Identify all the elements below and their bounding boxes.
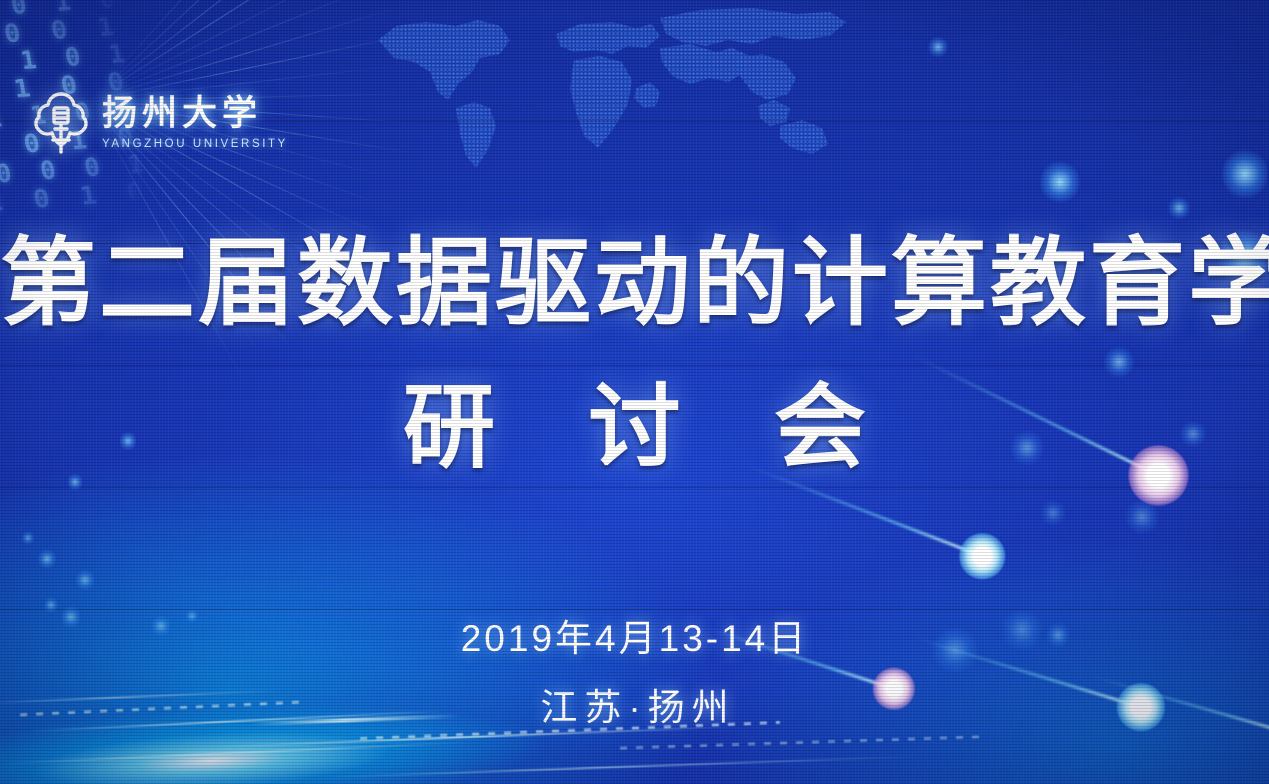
university-name-cn: 扬州大学 [102, 95, 288, 133]
bokeh-orb [22, 530, 34, 546]
bokeh-orb [1168, 196, 1190, 220]
panel-seam [0, 487, 1269, 488]
dashed-light-row [620, 735, 980, 749]
bokeh-orb [44, 596, 58, 614]
university-name-en: YANGZHOU UNIVERSITY [102, 137, 288, 152]
light-streak [320, 756, 920, 779]
event-location: 江苏·扬州 [0, 685, 1269, 731]
bokeh-orb [1040, 500, 1066, 526]
bokeh-orb [928, 36, 948, 58]
conference-backdrop: 0 1 0 1 0 0 1 01 0 0 1 0 1 1 00 1 0 0 1 … [0, 0, 1269, 784]
bokeh-orb [1222, 148, 1268, 200]
dotted-world-map [360, 0, 880, 172]
panel-seam [0, 609, 1269, 610]
light-streak [0, 741, 470, 764]
bokeh-orb [76, 568, 94, 592]
bokeh-orb [1104, 346, 1134, 378]
bokeh-orb [38, 548, 56, 570]
event-title-line-2: 研 讨 会 [0, 378, 1269, 478]
bokeh-orb [1040, 160, 1080, 204]
event-title-line-1: 第二届数据驱动的计算教育学 [0, 232, 1269, 336]
bokeh-orb [1124, 500, 1160, 534]
panel-seam [0, 365, 1269, 366]
event-date: 2019年4月13-14日 [0, 616, 1269, 662]
yangzhou-university-emblem-icon [30, 88, 92, 158]
university-logo: 扬州大学 YANGZHOU UNIVERSITY [30, 88, 288, 158]
